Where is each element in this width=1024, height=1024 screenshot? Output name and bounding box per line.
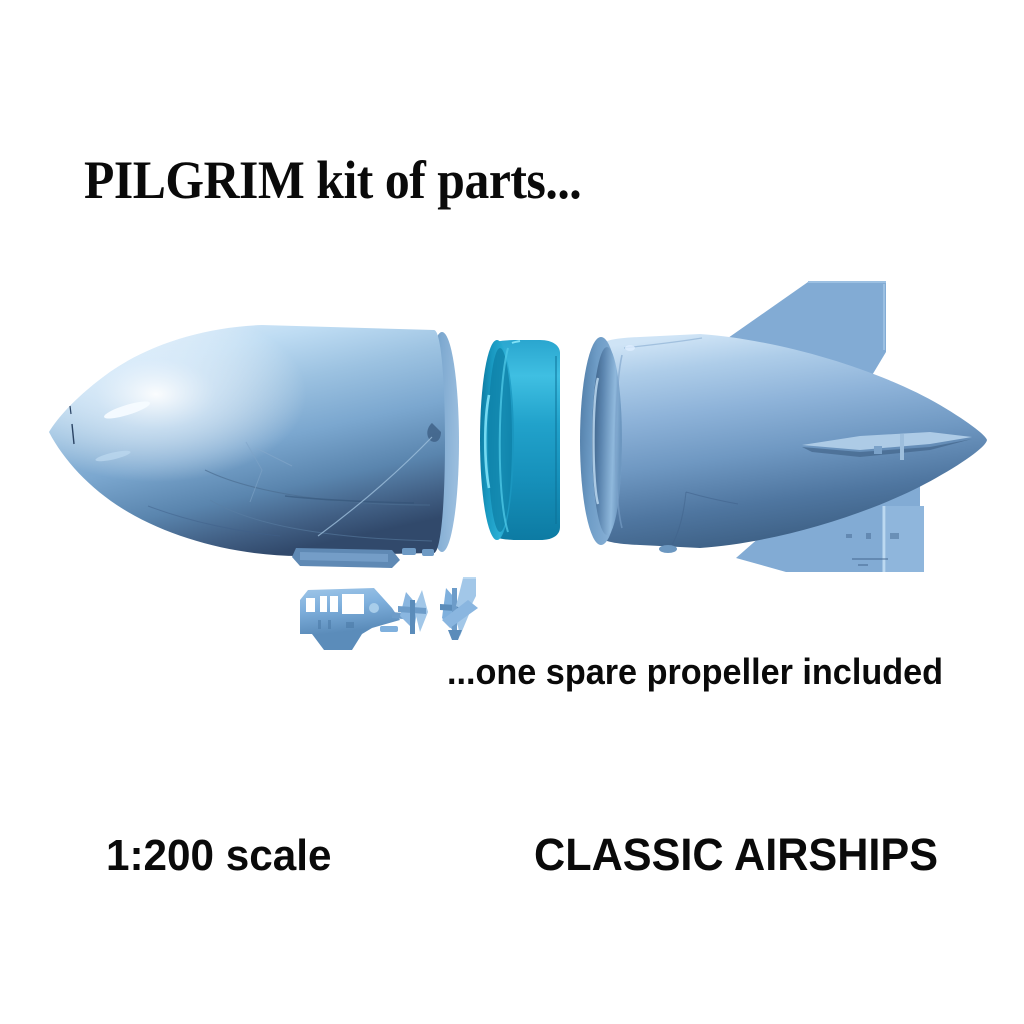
part-forward-hull[interactable] (49, 325, 459, 568)
part-center-ring[interactable] (480, 340, 560, 540)
brand-label: CLASSIC AIRSHIPS (534, 829, 938, 881)
page-title: PILGRIM kit of parts... (84, 152, 581, 209)
gondola-window-3 (330, 596, 338, 612)
part-aft-hull[interactable] (580, 282, 987, 572)
tagline-text: ...one spare propeller included (447, 651, 943, 693)
forward-hull-specular (49, 325, 445, 556)
gondola-window-2 (320, 596, 327, 612)
forward-hull-pad-tab-b (422, 549, 434, 556)
gondola-keel-pod (312, 634, 362, 650)
gondola-propeller (398, 590, 428, 634)
gondola-porthole (369, 603, 379, 613)
aft-hull-top-fitting (625, 345, 635, 351)
gondola-skid (380, 626, 398, 632)
aft-hull-stabiliser-strut (900, 434, 904, 460)
aft-hull-lower-fitting (659, 545, 677, 553)
part-gondola[interactable] (300, 588, 428, 650)
poster-canvas: PILGRIM kit of parts... ...one spare pro… (0, 0, 1024, 1024)
scale-label: 1:200 scale (106, 831, 331, 881)
gondola-window-4 (342, 594, 364, 614)
gondola-window-1 (306, 598, 315, 612)
forward-hull-pad-tab-a (402, 548, 416, 555)
spare-propeller-tip (448, 630, 462, 640)
aft-hull-stabiliser-fitting (874, 446, 882, 454)
